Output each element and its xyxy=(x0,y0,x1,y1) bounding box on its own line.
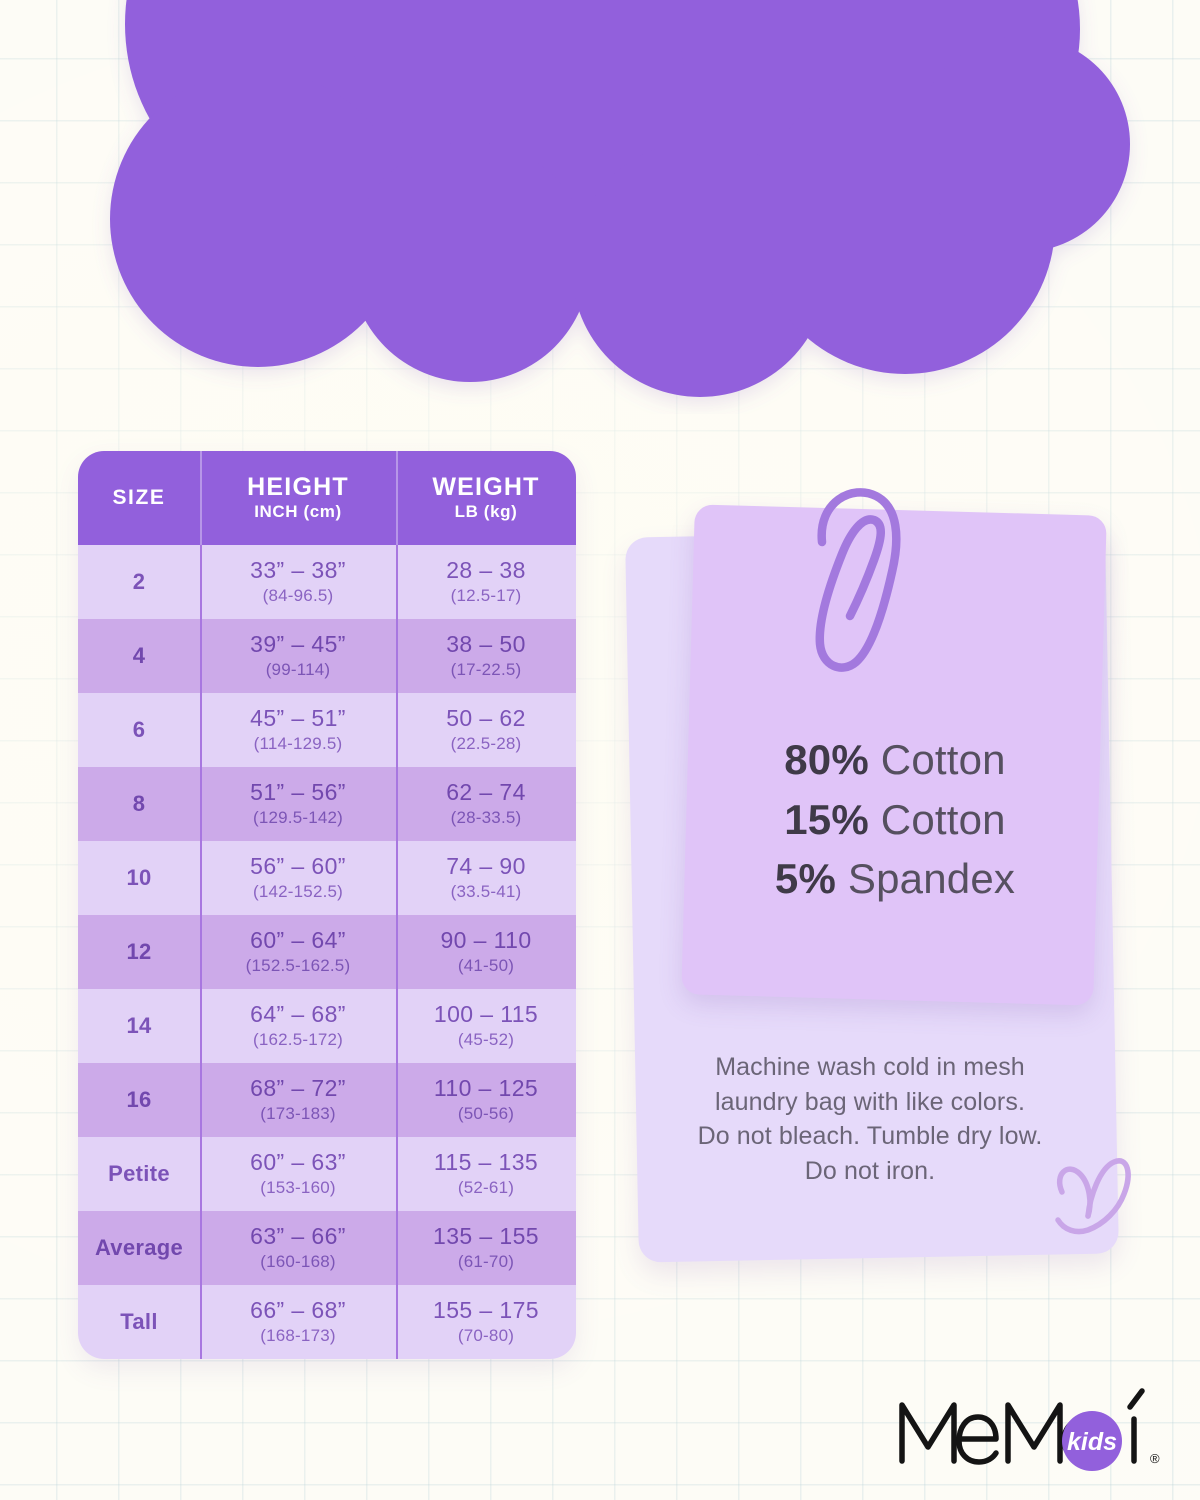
fabric-composition-list: 80% Cotton15% Cotton5% Spandex xyxy=(690,730,1100,909)
column-divider-1 xyxy=(200,767,202,841)
table-header-row: SIZE HEIGHT INCH (cm) WEIGHT LB (kg) xyxy=(78,451,576,545)
height-inches: 39” – 45” xyxy=(250,632,346,657)
size-label: Average xyxy=(95,1235,183,1261)
weight-kg: (45-52) xyxy=(458,1030,514,1050)
column-divider-1 xyxy=(200,1211,202,1285)
weight-kg: (33.5-41) xyxy=(451,882,522,902)
column-divider-1 xyxy=(200,545,202,619)
weight-lb: 115 – 135 xyxy=(434,1150,538,1175)
cell-size: Average xyxy=(78,1211,200,1285)
cell-weight: 62 – 74(28-33.5) xyxy=(396,767,576,841)
table-row: 1464” – 68”(162.5-172)100 – 115(45-52) xyxy=(78,989,576,1063)
cell-weight: 100 – 115(45-52) xyxy=(396,989,576,1063)
column-header-weight: WEIGHT LB (kg) xyxy=(396,451,576,545)
cell-size: 6 xyxy=(78,693,200,767)
weight-lb: 100 – 115 xyxy=(434,1002,538,1027)
column-divider-1 xyxy=(200,841,202,915)
weight-lb: 135 – 155 xyxy=(433,1224,539,1249)
cell-height: 60” – 63”(153-160) xyxy=(200,1137,396,1211)
height-cm: (160-168) xyxy=(260,1252,336,1272)
height-inches: 68” – 72” xyxy=(250,1076,346,1101)
column-header-height: HEIGHT INCH (cm) xyxy=(200,451,396,545)
height-cm: (168-173) xyxy=(260,1326,336,1346)
composition-material: Cotton xyxy=(881,796,1006,843)
size-chart-table: SIZE HEIGHT INCH (cm) WEIGHT LB (kg) 233… xyxy=(78,451,576,1359)
cell-size: Tall xyxy=(78,1285,200,1359)
paperclip-icon xyxy=(800,480,920,680)
registered-mark: ® xyxy=(1150,1451,1160,1466)
column-header-height-label: HEIGHT xyxy=(247,474,349,500)
memoi-kids-logo: kids ® xyxy=(896,1383,1164,1475)
column-divider-1 xyxy=(200,619,202,693)
weight-kg: (41-50) xyxy=(458,956,514,976)
weight-kg: (22.5-28) xyxy=(451,734,522,754)
height-cm: (99-114) xyxy=(266,660,331,680)
size-label: Tall xyxy=(120,1309,157,1335)
cell-weight: 28 – 38(12.5-17) xyxy=(396,545,576,619)
cell-height: 51” – 56”(129.5-142) xyxy=(200,767,396,841)
height-inches: 45” – 51” xyxy=(250,706,346,731)
height-cm: (129.5-142) xyxy=(253,808,343,828)
table-row: 1668” – 72”(173-183)110 – 125(50-56) xyxy=(78,1063,576,1137)
height-inches: 56” – 60” xyxy=(250,854,346,879)
column-header-size: SIZE xyxy=(78,451,200,545)
column-header-weight-unit: LB (kg) xyxy=(455,502,518,522)
column-header-size-label: SIZE xyxy=(112,487,165,509)
cell-height: 68” – 72”(173-183) xyxy=(200,1063,396,1137)
size-label: 4 xyxy=(133,643,146,669)
weight-lb: 38 – 50 xyxy=(446,632,526,657)
height-cm: (114-129.5) xyxy=(254,734,343,754)
weight-kg: (61-70) xyxy=(458,1252,514,1272)
table-body: 233” – 38”(84-96.5)28 – 38(12.5-17)439” … xyxy=(78,545,576,1359)
cell-weight: 155 – 175(70-80) xyxy=(396,1285,576,1359)
height-inches: 64” – 68” xyxy=(250,1002,346,1027)
weight-kg: (52-61) xyxy=(458,1178,514,1198)
cell-height: 66” – 68”(168-173) xyxy=(200,1285,396,1359)
height-cm: (84-96.5) xyxy=(263,586,334,606)
cell-height: 39” – 45”(99-114) xyxy=(200,619,396,693)
column-divider-1 xyxy=(200,693,202,767)
cell-height: 63” – 66”(160-168) xyxy=(200,1211,396,1285)
table-row: Average63” – 66”(160-168)135 – 155(61-70… xyxy=(78,1211,576,1285)
column-divider-1 xyxy=(200,989,202,1063)
weight-lb: 74 – 90 xyxy=(446,854,526,879)
height-inches: 60” – 64” xyxy=(250,928,346,953)
cell-height: 45” – 51”(114-129.5) xyxy=(200,693,396,767)
page-title: Find your suitable size xyxy=(0,0,1200,5)
cell-weight: 90 – 110(41-50) xyxy=(396,915,576,989)
table-row: 851” – 56”(129.5-142)62 – 74(28-33.5) xyxy=(78,767,576,841)
column-divider-1 xyxy=(200,1285,202,1359)
column-divider-2 xyxy=(396,1285,398,1359)
size-label: 2 xyxy=(133,569,146,595)
weight-kg: (17-22.5) xyxy=(451,660,522,680)
weight-kg: (28-33.5) xyxy=(451,808,522,828)
column-divider-2 xyxy=(396,545,398,619)
composition-line: 80% Cotton xyxy=(690,730,1100,790)
column-divider-2 xyxy=(396,841,398,915)
column-divider-2 xyxy=(396,767,398,841)
height-cm: (173-183) xyxy=(260,1104,336,1124)
weight-lb: 62 – 74 xyxy=(446,780,526,805)
table-row: 1260” – 64”(152.5-162.5)90 – 110(41-50) xyxy=(78,915,576,989)
column-divider-1 xyxy=(200,1137,202,1211)
height-cm: (142-152.5) xyxy=(253,882,343,902)
cell-weight: 74 – 90(33.5-41) xyxy=(396,841,576,915)
column-divider-2 xyxy=(396,693,398,767)
cloud-shape xyxy=(110,0,1130,397)
height-cm: (152.5-162.5) xyxy=(246,956,351,976)
column-divider-2 xyxy=(396,1063,398,1137)
column-divider-2 xyxy=(396,915,398,989)
header-cloud: Find your suitable size xyxy=(0,0,1200,414)
cell-size: 2 xyxy=(78,545,200,619)
kids-badge-label: kids xyxy=(1067,1428,1117,1456)
table-row: 645” – 51”(114-129.5)50 – 62(22.5-28) xyxy=(78,693,576,767)
cell-size: Petite xyxy=(78,1137,200,1211)
cell-size: 8 xyxy=(78,767,200,841)
column-divider-1 xyxy=(200,915,202,989)
care-instructions-text: Machine wash cold in mesh laundry bag wi… xyxy=(655,1050,1085,1188)
height-cm: (162.5-172) xyxy=(253,1030,343,1050)
column-divider-2 xyxy=(396,619,398,693)
cell-height: 33” – 38”(84-96.5) xyxy=(200,545,396,619)
table-row: 233” – 38”(84-96.5)28 – 38(12.5-17) xyxy=(78,545,576,619)
size-label: 16 xyxy=(126,1087,151,1113)
weight-lb: 28 – 38 xyxy=(446,558,526,583)
column-divider-1 xyxy=(200,451,202,545)
weight-kg: (70-80) xyxy=(458,1326,514,1346)
table-row: Petite60” – 63”(153-160)115 – 135(52-61) xyxy=(78,1137,576,1211)
cell-weight: 135 – 155(61-70) xyxy=(396,1211,576,1285)
height-inches: 63” – 66” xyxy=(250,1224,346,1249)
size-label: 6 xyxy=(133,717,146,743)
composition-material: Cotton xyxy=(881,736,1006,783)
column-divider-2 xyxy=(396,1211,398,1285)
table-row: Tall66” – 68”(168-173)155 – 175(70-80) xyxy=(78,1285,576,1359)
cell-size: 10 xyxy=(78,841,200,915)
weight-kg: (12.5-17) xyxy=(451,586,522,606)
heart-icon xyxy=(1048,1152,1140,1248)
size-label: 14 xyxy=(126,1013,151,1039)
column-header-weight-label: WEIGHT xyxy=(432,474,539,500)
weight-lb: 155 – 175 xyxy=(433,1298,539,1323)
cell-size: 16 xyxy=(78,1063,200,1137)
weight-lb: 110 – 125 xyxy=(434,1076,538,1101)
weight-kg: (50-56) xyxy=(458,1104,514,1124)
column-divider-1 xyxy=(200,1063,202,1137)
height-inches: 33” – 38” xyxy=(250,558,346,583)
cell-height: 60” – 64”(152.5-162.5) xyxy=(200,915,396,989)
column-divider-2 xyxy=(396,451,398,545)
cell-weight: 115 – 135(52-61) xyxy=(396,1137,576,1211)
size-label: 12 xyxy=(126,939,151,965)
weight-lb: 90 – 110 xyxy=(440,928,531,953)
cell-weight: 110 – 125(50-56) xyxy=(396,1063,576,1137)
cell-height: 56” – 60”(142-152.5) xyxy=(200,841,396,915)
cell-weight: 38 – 50(17-22.5) xyxy=(396,619,576,693)
composition-percent: 15% xyxy=(784,796,869,843)
column-divider-2 xyxy=(396,1137,398,1211)
size-label: 10 xyxy=(126,865,151,891)
height-inches: 51” – 56” xyxy=(250,780,346,805)
composition-percent: 5% xyxy=(775,855,836,902)
composition-percent: 80% xyxy=(784,736,869,783)
column-header-height-unit: INCH (cm) xyxy=(254,502,342,522)
weight-lb: 50 – 62 xyxy=(446,706,526,731)
composition-line: 5% Spandex xyxy=(690,849,1100,909)
column-divider-2 xyxy=(396,989,398,1063)
height-cm: (153-160) xyxy=(260,1178,336,1198)
table-row: 1056” – 60”(142-152.5)74 – 90(33.5-41) xyxy=(78,841,576,915)
cell-height: 64” – 68”(162.5-172) xyxy=(200,989,396,1063)
cell-size: 14 xyxy=(78,989,200,1063)
size-label: Petite xyxy=(108,1161,170,1187)
table-row: 439” – 45”(99-114)38 – 50(17-22.5) xyxy=(78,619,576,693)
cell-size: 4 xyxy=(78,619,200,693)
composition-line: 15% Cotton xyxy=(690,790,1100,850)
cell-size: 12 xyxy=(78,915,200,989)
composition-material: Spandex xyxy=(848,855,1015,902)
height-inches: 66” – 68” xyxy=(250,1298,346,1323)
height-inches: 60” – 63” xyxy=(250,1150,346,1175)
size-label: 8 xyxy=(133,791,146,817)
cell-weight: 50 – 62(22.5-28) xyxy=(396,693,576,767)
